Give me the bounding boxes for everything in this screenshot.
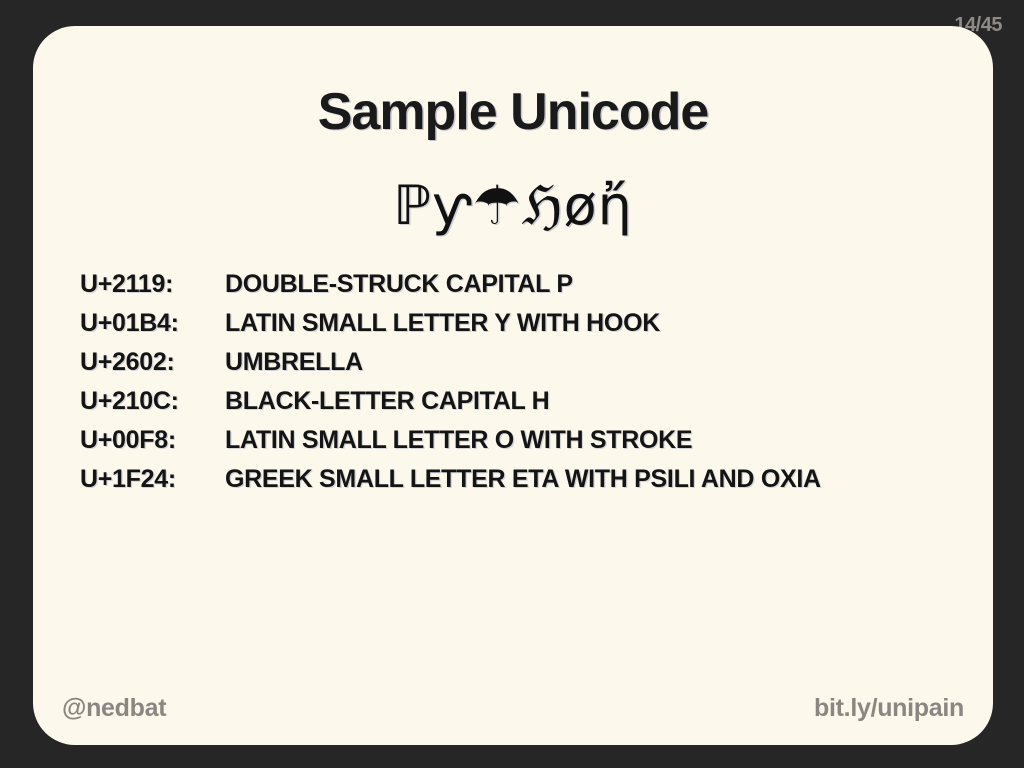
codepoint-code: U+1F24:	[80, 465, 225, 494]
sample-unicode-text: ℙƴ☂ℌøἤ	[33, 176, 993, 235]
codepoint-list: U+2119: DOUBLE-STRUCK CAPITAL P U+01B4: …	[80, 270, 963, 504]
list-item: U+210C: BLACK-LETTER CAPITAL H	[80, 387, 963, 426]
codepoint-code: U+2602:	[80, 348, 225, 377]
list-item: U+2119: DOUBLE-STRUCK CAPITAL P	[80, 270, 963, 309]
codepoint-code: U+00F8:	[80, 426, 225, 455]
codepoint-name: GREEK SMALL LETTER ETA WITH PSILI AND OX…	[225, 465, 963, 494]
slide-footer: @nedbat bit.ly/unipain	[33, 689, 993, 723]
author-handle: @nedbat	[62, 694, 166, 723]
talk-link[interactable]: bit.ly/unipain	[814, 694, 964, 723]
list-item: U+01B4: LATIN SMALL LETTER Y WITH HOOK	[80, 309, 963, 348]
codepoint-code: U+210C:	[80, 387, 225, 416]
list-item: U+00F8: LATIN SMALL LETTER O WITH STROKE	[80, 426, 963, 465]
codepoint-name: DOUBLE-STRUCK CAPITAL P	[225, 270, 963, 299]
codepoint-name: BLACK-LETTER CAPITAL H	[225, 387, 963, 416]
list-item: U+1F24: GREEK SMALL LETTER ETA WITH PSIL…	[80, 465, 963, 504]
codepoint-code: U+2119:	[80, 270, 225, 299]
codepoint-name: UMBRELLA	[225, 348, 963, 377]
slide-deck: 14/45 Sample Unicode ℙƴ☂ℌøἤ U+2119: DOUB…	[0, 0, 1024, 768]
codepoint-name: LATIN SMALL LETTER Y WITH HOOK	[225, 309, 963, 338]
codepoint-code: U+01B4:	[80, 309, 225, 338]
codepoint-name: LATIN SMALL LETTER O WITH STROKE	[225, 426, 963, 455]
slide-card: Sample Unicode ℙƴ☂ℌøἤ U+2119: DOUBLE-STR…	[33, 26, 993, 745]
list-item: U+2602: UMBRELLA	[80, 348, 963, 387]
page-title: Sample Unicode	[33, 82, 993, 142]
